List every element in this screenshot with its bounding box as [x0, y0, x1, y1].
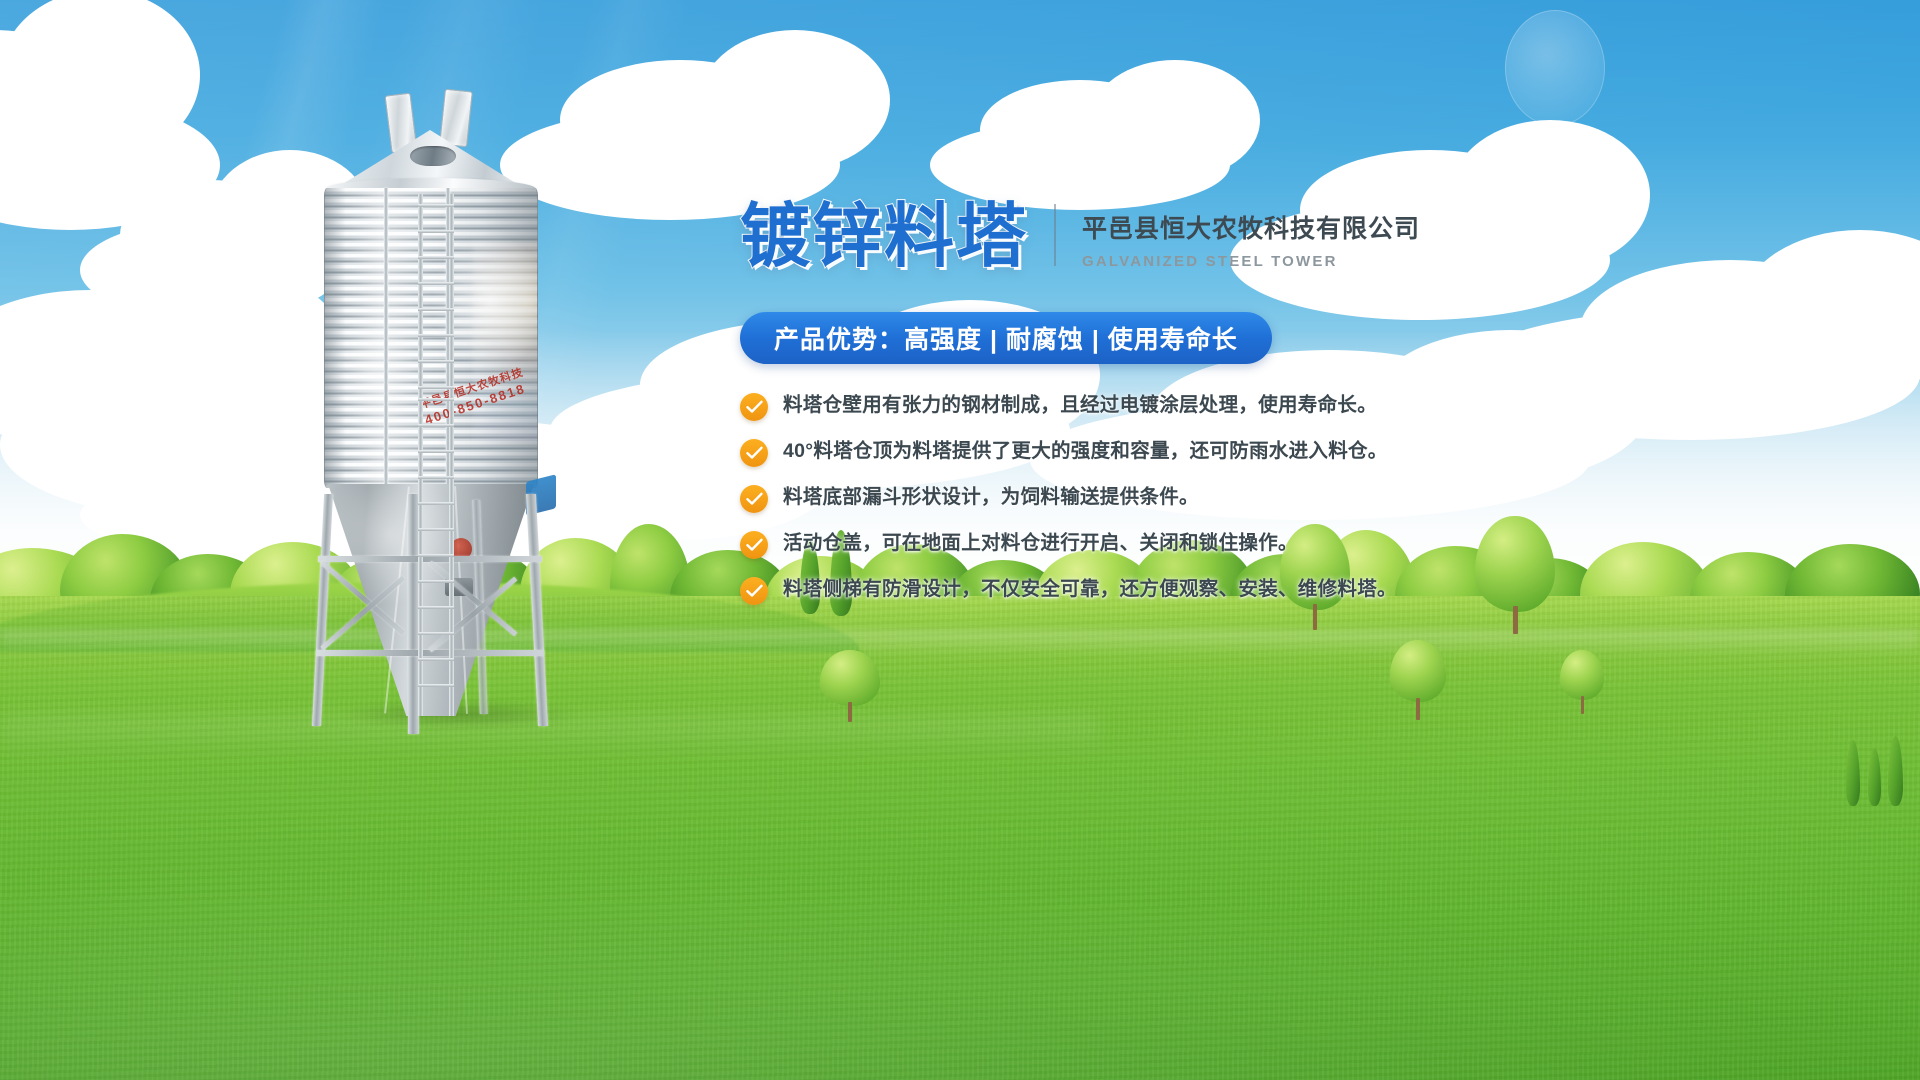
list-item-label: 活动仓盖，可在地面上对料仓进行开启、关闭和锁住操作。: [783, 530, 1298, 557]
grass-field: [0, 596, 1920, 1080]
english-subtitle: GALVANIZED STEEL TOWER: [1082, 253, 1420, 270]
silo-roof-hatch: [410, 146, 456, 166]
list-item: 料塔仓壁用有张力的钢材制成，且经过电镀涂层处理，使用寿命长。: [740, 392, 1860, 421]
list-item-label: 料塔底部漏斗形状设计，为饲料输送提供条件。: [783, 484, 1199, 511]
list-item: 料塔侧梯有防滑设计，不仅安全可靠，还方便观察、安装、维修料塔。: [740, 576, 1860, 605]
list-item: 料塔底部漏斗形状设计，为饲料输送提供条件。: [740, 484, 1860, 513]
list-item-label: 40°料塔仓顶为料塔提供了更大的强度和容量，还可防雨水进入料仓。: [783, 438, 1388, 465]
hero-banner: 平邑县恒大农牧科技 400-850-8818: [0, 0, 1920, 1080]
grass-texture: [0, 596, 1920, 1080]
check-icon: [740, 531, 768, 559]
check-icon: [740, 393, 768, 421]
title-row: 镀锌料塔 平邑县恒大农牧科技有限公司 GALVANIZED STEEL TOWE…: [740, 196, 1860, 276]
silo-side-ladder: [418, 390, 454, 716]
silo-support-leg: [526, 494, 548, 726]
feature-list: 料塔仓壁用有张力的钢材制成，且经过电镀涂层处理，使用寿命长。 40°料塔仓顶为料…: [740, 392, 1860, 605]
advantage-badge: 产品优势：高强度 | 耐腐蚀 | 使用寿命长: [740, 312, 1272, 364]
silo-upper-ladder: [418, 194, 454, 394]
silo-vertical-seam: [384, 188, 388, 488]
mow-stripe: [0, 630, 1920, 656]
silo-support-leg: [312, 494, 333, 726]
check-icon: [740, 485, 768, 513]
feed-silo-illustration: 平邑县恒大农牧科技 400-850-8818: [300, 90, 620, 750]
page-title: 镀锌料塔: [740, 196, 1028, 276]
title-divider: [1054, 204, 1056, 266]
list-item: 40°料塔仓顶为料塔提供了更大的强度和容量，还可防雨水进入料仓。: [740, 438, 1860, 467]
company-name: 平邑县恒大农牧科技有限公司: [1082, 209, 1420, 245]
check-icon: [740, 577, 768, 605]
lens-flare-icon: [1505, 10, 1605, 126]
list-item-label: 料塔仓壁用有张力的钢材制成，且经过电镀涂层处理，使用寿命长。: [783, 392, 1377, 419]
text-panel: 镀锌料塔 平邑县恒大农牧科技有限公司 GALVANIZED STEEL TOWE…: [740, 196, 1860, 622]
list-item: 活动仓盖，可在地面上对料仓进行开启、关闭和锁住操作。: [740, 530, 1860, 559]
silo-roof-vent: [439, 89, 473, 148]
company-block: 平邑县恒大农牧科技有限公司 GALVANIZED STEEL TOWER: [1082, 209, 1420, 276]
check-icon: [740, 439, 768, 467]
list-item-label: 料塔侧梯有防滑设计，不仅安全可靠，还方便观察、安装、维修料塔。: [783, 576, 1397, 603]
